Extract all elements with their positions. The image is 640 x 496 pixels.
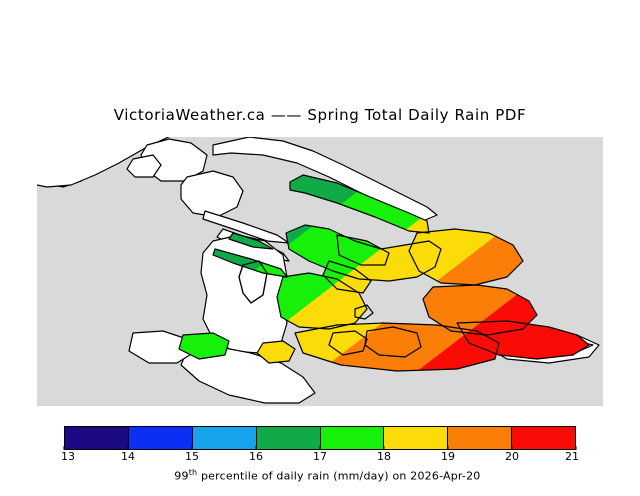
caption-prefix: 99 <box>174 470 188 483</box>
colorbar-segment-20-21 <box>512 427 575 449</box>
colorbar-segment-18-19 <box>384 427 448 449</box>
map-background <box>37 137 603 406</box>
colorbar-segment-17-18 <box>321 427 385 449</box>
colorbar-segment-15-16 <box>193 427 257 449</box>
map-plot-area[interactable] <box>37 137 603 406</box>
colorbar[interactable]: 131415161718192021 <box>64 426 576 450</box>
colorbar-segment-19-20 <box>448 427 512 449</box>
colorbar-segment-13-14 <box>65 427 129 449</box>
colorbar-segment-16-17 <box>257 427 321 449</box>
screenshot-root: VictoriaWeather.ca —— Spring Total Daily… <box>0 0 640 480</box>
colorbar-segment-14-15 <box>129 427 193 449</box>
caption-superscript: th <box>189 468 198 477</box>
page-title: VictoriaWeather.ca —— Spring Total Daily… <box>0 106 640 124</box>
map-svg <box>37 137 603 406</box>
colorbar-caption: 99th percentile of daily rain (mm/day) o… <box>0 455 640 496</box>
caption-rest: percentile of daily rain (mm/day) on 202… <box>197 470 480 483</box>
